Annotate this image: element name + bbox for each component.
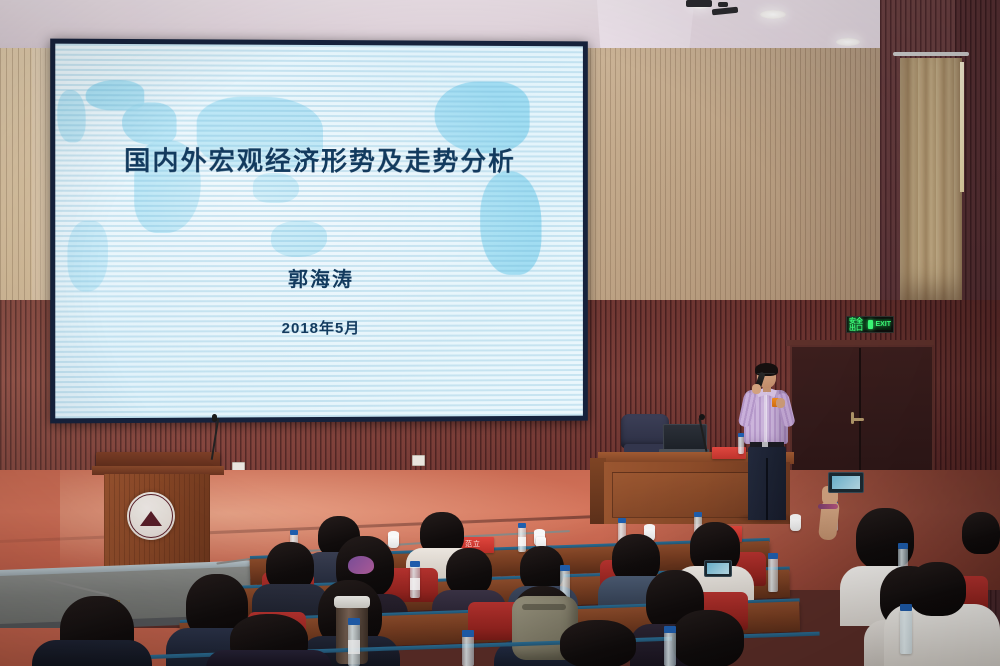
slide-author: 郭海涛 bbox=[55, 263, 583, 293]
row3-bottle-cap-2 bbox=[560, 565, 570, 571]
curtain-rod bbox=[893, 52, 969, 56]
row3-bottle-cap-1 bbox=[410, 561, 420, 567]
audience-phone-raised-screen bbox=[832, 476, 860, 489]
window-curtain bbox=[900, 58, 962, 308]
row4-bottle-cap-3 bbox=[664, 626, 676, 633]
row1-bottle-cap-2 bbox=[518, 523, 526, 528]
row1-teacup-lid-5 bbox=[790, 514, 801, 519]
photo-canvas: 国内外宏观经济形势及走势分析 郭海涛 2018年5月 安全出口 EXIT bbox=[0, 0, 1000, 666]
audience-head-r1-3 bbox=[962, 512, 1000, 554]
row1-teacup-1 bbox=[388, 535, 399, 548]
row4-bottle-label-1 bbox=[348, 640, 360, 654]
row1-bottle-cap-3 bbox=[618, 518, 626, 523]
wall-outlet-plate-2 bbox=[412, 455, 425, 466]
row4-bottle-3 bbox=[664, 632, 676, 666]
audience-body-r4-1 bbox=[32, 640, 152, 666]
audience-head-r4-4 bbox=[672, 610, 744, 666]
crest-ring bbox=[129, 494, 173, 538]
row4-bottle-4 bbox=[900, 610, 912, 654]
row4-bottle-cap-4 bbox=[900, 604, 912, 611]
audience-head-r4-5 bbox=[908, 562, 966, 616]
map-north-america-left-wrap bbox=[57, 90, 85, 142]
left-wall-panel bbox=[0, 48, 32, 310]
exit-sign-label-cn: 安全出口 bbox=[849, 318, 866, 332]
row3-bottle-cap-3 bbox=[768, 553, 778, 559]
hair-bow-accessory bbox=[348, 556, 374, 574]
row1-bottle-cap-4 bbox=[694, 512, 702, 517]
audience-phone-1-screen bbox=[707, 563, 729, 574]
row3-bottle-label-1 bbox=[410, 578, 420, 590]
map-australia bbox=[271, 221, 327, 257]
presenter-hand-left bbox=[752, 384, 761, 394]
audience-body-r4-2 bbox=[206, 650, 332, 666]
slide-date: 2018年5月 bbox=[55, 316, 583, 338]
slide-title: 国内外宏观经济形势及走势分析 bbox=[55, 140, 583, 178]
window-light-strip bbox=[960, 62, 964, 192]
exit-sign-panel: 安全出口 EXIT bbox=[849, 319, 891, 330]
presenter-shirt-placket bbox=[764, 392, 767, 442]
downlight-1 bbox=[760, 10, 786, 19]
row4-bottle-2 bbox=[462, 636, 474, 666]
row1-teacup-lid-2 bbox=[534, 529, 545, 534]
audience-phone-1[interactable] bbox=[704, 560, 732, 577]
desk-microphone-head bbox=[699, 414, 705, 420]
running-person-icon bbox=[868, 320, 873, 329]
university-crest-emblem bbox=[127, 492, 175, 540]
track-light-2 bbox=[718, 2, 728, 7]
presenter-hand-right bbox=[776, 398, 785, 408]
presenter-leg-separation bbox=[766, 458, 768, 520]
row1-bottle-cap-1 bbox=[290, 530, 298, 535]
wrist-bracelet bbox=[818, 504, 838, 509]
track-light-1 bbox=[686, 0, 712, 7]
thermos-lid bbox=[334, 596, 370, 608]
exit-sign-label-en: EXIT bbox=[875, 321, 891, 328]
presenter-belt-buckle bbox=[762, 442, 768, 447]
backpack-strap bbox=[522, 604, 566, 610]
row3-bottle-cap-4 bbox=[898, 543, 908, 549]
row1-teacup-lid-3 bbox=[644, 524, 655, 529]
door-lock-plate bbox=[851, 412, 854, 424]
map-greenland bbox=[86, 80, 145, 110]
downlight-2 bbox=[836, 38, 860, 46]
audience-phone-raised[interactable] bbox=[828, 472, 864, 493]
projection-screen: 国内外宏观经济形势及走势分析 郭海涛 2018年5月 bbox=[55, 44, 583, 419]
audience-head-r2-3 bbox=[446, 548, 492, 596]
row1-bottle-label-2 bbox=[518, 537, 526, 546]
row4-bottle-cap-2 bbox=[462, 630, 474, 637]
map-south-america bbox=[480, 171, 541, 275]
crest-mountain-icon bbox=[140, 511, 162, 526]
row4-bottle-cap-1 bbox=[348, 618, 360, 625]
row1-teacup-5 bbox=[790, 518, 801, 531]
audience-head-r4-3 bbox=[560, 620, 636, 666]
presenter-chair-back bbox=[621, 414, 669, 448]
projection-screen-frame: 国内外宏观经济形势及走势分析 郭海涛 2018年5月 bbox=[50, 39, 588, 424]
emergency-exit-sign: 安全出口 EXIT bbox=[846, 316, 894, 333]
row1-teacup-lid-1 bbox=[388, 531, 399, 536]
podium-microphone-head bbox=[212, 414, 217, 422]
row3-bottle-3 bbox=[768, 558, 778, 592]
